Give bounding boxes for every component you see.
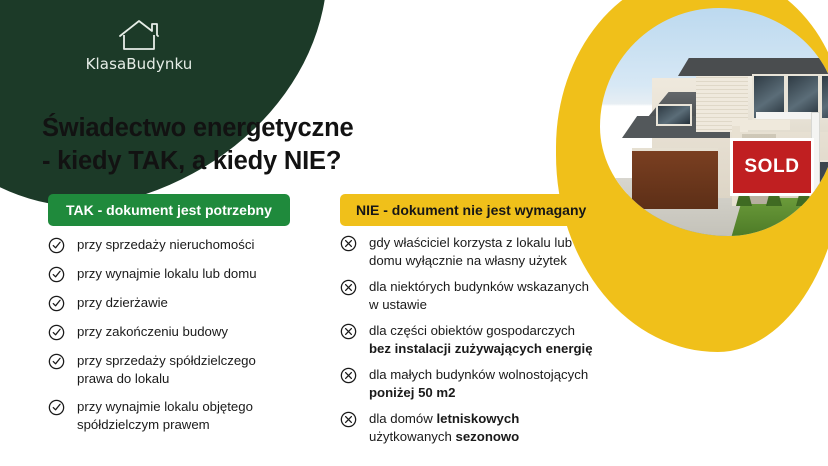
check-circle-icon bbox=[48, 324, 65, 341]
page-title: Świadectwo energetyczne - kiedy TAK, a k… bbox=[42, 112, 562, 178]
list-item: przy wynajmie lokalu lub domu bbox=[48, 265, 318, 283]
line-2-plain: domu wyłącznie na własny użytek bbox=[369, 253, 567, 268]
line-1-plain: gdy właściciel korzysta z lokalu lub bbox=[369, 235, 572, 250]
brand-logo: KlasaBudynku bbox=[74, 18, 204, 73]
line-1-plain: dla niektórych budynków wskazanych bbox=[369, 279, 589, 294]
list-item-line-1: przy wynajmie lokalu objętego bbox=[77, 399, 253, 414]
sold-sign-label: SOLD bbox=[744, 156, 799, 178]
list-item-line-1: dla domów letniskowych bbox=[369, 411, 519, 426]
list-item: dla domów letniskowych użytkowanych sezo… bbox=[340, 410, 630, 445]
list-item-line-1: przy sprzedaży nieruchomości bbox=[77, 237, 254, 252]
list-item: dla małych budynków wolnostojących poniż… bbox=[340, 366, 630, 401]
list-item-text: przy sprzedaży spółdzielczego prawa do l… bbox=[77, 352, 318, 387]
list-item-text: dla domów letniskowych użytkowanych sezo… bbox=[369, 410, 630, 445]
line-1-plain: dla domów bbox=[369, 411, 436, 426]
list-item: przy zakończeniu budowy bbox=[48, 323, 318, 341]
list-item-line-1: dla niektórych budynków wskazanych bbox=[369, 279, 589, 294]
yes-list: przy sprzedaży nieruchomości przy wynajm… bbox=[48, 236, 318, 444]
line-1-plain: dla części obiektów gospodarczych bbox=[369, 323, 575, 338]
list-item-text: dla małych budynków wolnostojących poniż… bbox=[369, 366, 630, 401]
line-2-bold: poniżej 50 m2 bbox=[369, 385, 455, 400]
line-2-bold: bez instalacji zużywających energię bbox=[369, 341, 593, 356]
page-title-line-1: Świadectwo energetyczne bbox=[42, 112, 562, 145]
list-item-text: dla części obiektów gospodarczych bez in… bbox=[369, 322, 630, 357]
list-item-text: przy zakończeniu budowy bbox=[77, 323, 318, 341]
check-circle-icon bbox=[48, 295, 65, 312]
x-circle-icon bbox=[340, 411, 357, 428]
list-item-text: gdy właściciel korzysta z lokalu lub dom… bbox=[369, 234, 630, 269]
page-title-line-2: - kiedy TAK, a kiedy NIE? bbox=[42, 145, 562, 178]
list-item: gdy właściciel korzysta z lokalu lub dom… bbox=[340, 234, 630, 269]
list-item: przy sprzedaży spółdzielczego prawa do l… bbox=[48, 352, 318, 387]
list-item-text: dla niektórych budynków wskazanych w ust… bbox=[369, 278, 630, 313]
list-item-line-1: przy wynajmie lokalu lub domu bbox=[77, 266, 257, 281]
list-item: przy wynajmie lokalu objętego spółdzielc… bbox=[48, 398, 318, 433]
list-item-text: przy dzierżawie bbox=[77, 294, 318, 312]
check-circle-icon bbox=[48, 353, 65, 370]
x-circle-icon bbox=[340, 279, 357, 296]
list-item-line-2: prawa do lokalu bbox=[77, 370, 318, 388]
list-item-line-1: przy dzierżawie bbox=[77, 295, 168, 310]
list-item-line-1: dla małych budynków wolnostojących bbox=[369, 367, 588, 382]
house-photo: SOLD bbox=[600, 8, 828, 236]
x-circle-icon bbox=[340, 235, 357, 252]
line-1-plain: dla małych budynków wolnostojących bbox=[369, 367, 588, 382]
house-photo-image: SOLD bbox=[600, 8, 828, 236]
list-item: przy sprzedaży nieruchomości bbox=[48, 236, 318, 254]
window-side bbox=[656, 104, 692, 126]
list-item: przy dzierżawie bbox=[48, 294, 318, 312]
list-item-line-2: w ustawie bbox=[369, 296, 630, 314]
line-2-bold: sezonowo bbox=[456, 429, 520, 444]
no-badge-label: NIE - dokument nie jest wymagany bbox=[356, 202, 586, 218]
no-list: gdy właściciel korzysta z lokalu lub dom… bbox=[340, 234, 630, 454]
list-item: dla niektórych budynków wskazanych w ust… bbox=[340, 278, 630, 313]
list-item-line-1: przy zakończeniu budowy bbox=[77, 324, 228, 339]
check-circle-icon bbox=[48, 266, 65, 283]
list-item-line-1: gdy właściciel korzysta z lokalu lub bbox=[369, 235, 572, 250]
window-upper-3 bbox=[820, 74, 828, 120]
list-item-line-2: użytkowanych sezonowo bbox=[369, 428, 630, 446]
check-circle-icon bbox=[48, 399, 65, 416]
sold-sign: SOLD bbox=[730, 138, 814, 196]
list-item-line-2: poniżej 50 m2 bbox=[369, 384, 630, 402]
infographic-canvas: KlasaBudynku bbox=[0, 0, 828, 466]
line-2-plain: w ustawie bbox=[369, 297, 427, 312]
no-badge: NIE - dokument nie jest wymagany bbox=[340, 194, 602, 226]
house-outline-icon bbox=[116, 18, 162, 52]
list-item-line-2: spółdzielczym prawem bbox=[77, 416, 318, 434]
list-item-text: przy wynajmie lokalu lub domu bbox=[77, 265, 318, 283]
list-item: dla części obiektów gospodarczych bez in… bbox=[340, 322, 630, 357]
list-item-line-1: dla części obiektów gospodarczych bbox=[369, 323, 575, 338]
garage-door bbox=[632, 148, 718, 209]
x-circle-icon bbox=[340, 367, 357, 384]
list-item-line-2: domu wyłącznie na własny użytek bbox=[369, 252, 630, 270]
list-item-text: przy wynajmie lokalu objętego spółdzielc… bbox=[77, 398, 318, 433]
yes-badge-label: TAK - dokument jest potrzebny bbox=[66, 202, 272, 218]
line-2-plain: użytkowanych bbox=[369, 429, 456, 444]
list-item-line-2: bez instalacji zużywających energię bbox=[369, 340, 630, 358]
brand-name: KlasaBudynku bbox=[74, 55, 204, 73]
line-1-bold: letniskowych bbox=[436, 411, 519, 426]
porch-roof bbox=[732, 120, 790, 130]
list-item-text: przy sprzedaży nieruchomości bbox=[77, 236, 318, 254]
check-circle-icon bbox=[48, 237, 65, 254]
yes-badge: TAK - dokument jest potrzebny bbox=[48, 194, 290, 226]
x-circle-icon bbox=[340, 323, 357, 340]
list-item-line-1: przy sprzedaży spółdzielczego bbox=[77, 353, 256, 368]
